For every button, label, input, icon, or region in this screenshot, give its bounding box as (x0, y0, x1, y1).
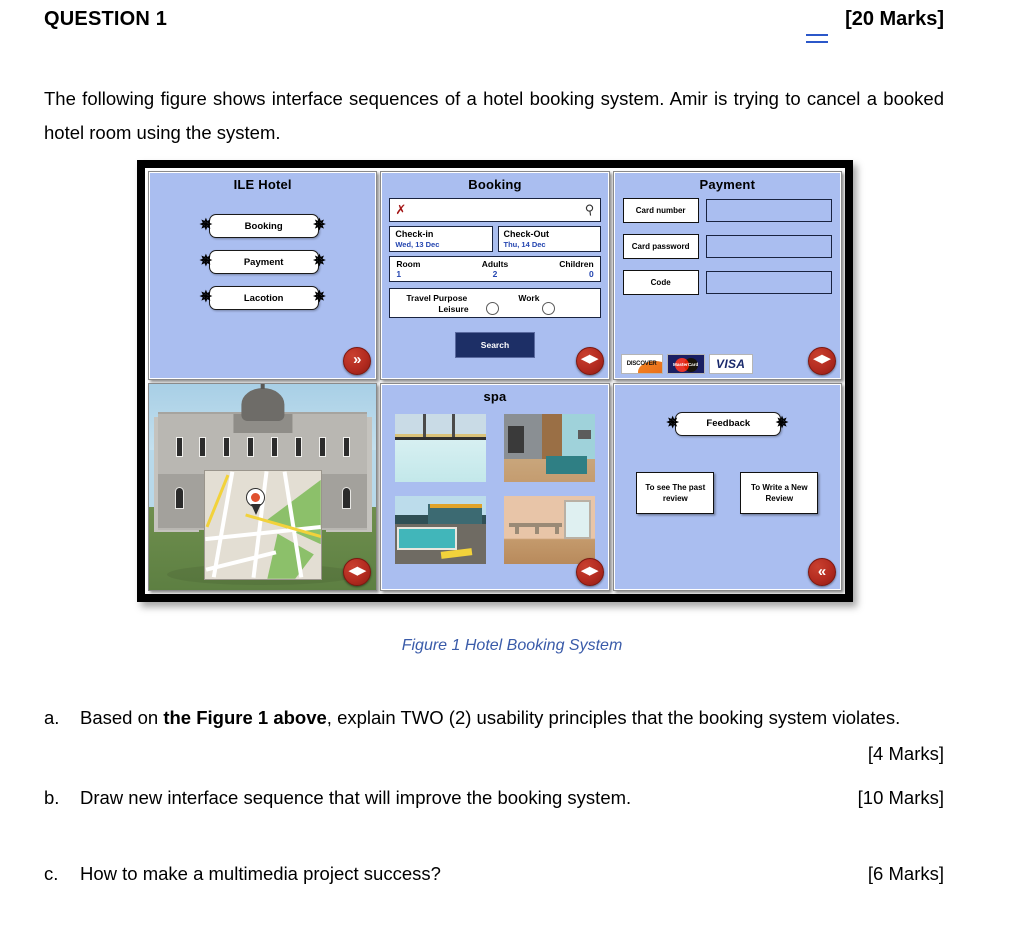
prev-next-arrow-icon[interactable]: ◀▶ (576, 347, 604, 375)
panel-spa[interactable]: spa (380, 383, 609, 592)
burst-left-icon: ✵ (200, 218, 213, 233)
question-a: a. Based on the Figure 1 above, explain … (44, 700, 944, 736)
figure-frame: ILE Hotel ✵ Booking ✵ ✵ Payment ✵ (137, 160, 853, 602)
page-title: QUESTION 1 (44, 8, 167, 31)
guests-field[interactable]: Room 1 Adults 2 Children 0 (389, 256, 600, 282)
back-arrow-icon[interactable]: « (808, 558, 836, 586)
clear-icon[interactable]: ✗ (395, 203, 406, 218)
burst-right-icon: ✵ (313, 218, 326, 233)
visa-logo-icon: VISA (709, 354, 753, 374)
figure-caption: Figure 1 Hotel Booking System (0, 637, 1024, 655)
spa-title: spa (381, 389, 608, 404)
menu-title: ILE Hotel (149, 177, 376, 192)
feedback-buttons: To see The past review To Write a New Re… (614, 472, 841, 514)
question-b: b. Draw new interface sequence that will… (44, 780, 944, 816)
card-number-input[interactable] (706, 199, 832, 222)
question-a-marks: [4 Marks] (868, 736, 944, 772)
mastercard-logo-icon: MasterCard (667, 354, 705, 374)
card-number-row: Card number (623, 198, 832, 223)
menu-item-booking[interactable]: ✵ Booking ✵ (209, 214, 317, 236)
room-cell[interactable]: Room 1 (396, 259, 462, 279)
blue-underline-artifact (806, 34, 828, 43)
travel-purpose-label: Travel Purpose (406, 293, 467, 303)
burst-left-icon: ✵ (666, 415, 679, 430)
menu-list: ✵ Booking ✵ ✵ Payment ✵ ✵ Lacotion ✵ (149, 214, 376, 308)
feedback-label: Feedback (706, 418, 750, 429)
room-label: Room (396, 259, 462, 269)
question-b-label: b. (44, 780, 70, 816)
see-past-review-button[interactable]: To see The past review (636, 472, 714, 514)
adults-label: Adults (462, 259, 528, 269)
question-a-text-bold: the Figure 1 above (163, 707, 326, 728)
search-icon[interactable]: ⚲ (584, 201, 596, 218)
accepted-cards: DISCOVER MasterCard VISA (621, 354, 753, 374)
checkout-value: Thu, 14 Dec (504, 240, 595, 250)
menu-item-payment[interactable]: ✵ Payment ✵ (209, 250, 317, 272)
total-marks: [20 Marks] (845, 8, 944, 31)
question-b-text: Draw new interface sequence that will im… (80, 787, 631, 808)
spa-thumbnails (395, 414, 594, 565)
checkin-field[interactable]: Check-in Wed, 13 Dec (389, 226, 492, 252)
code-input[interactable] (706, 271, 832, 294)
prev-next-arrow-icon[interactable]: ◀▶ (808, 347, 836, 375)
burst-right-icon: ✵ (313, 254, 326, 269)
menu-item-label: Payment (244, 257, 284, 268)
question-b-marks: [10 Marks] (858, 780, 944, 816)
children-label: Children (528, 259, 594, 269)
burst-right-icon: ✵ (313, 290, 326, 305)
card-password-row: Card password (623, 234, 832, 259)
page-header: QUESTION 1 [20 Marks] (44, 8, 944, 42)
room-value: 1 (396, 269, 462, 279)
question-c: c. How to make a multimedia project succ… (44, 856, 944, 892)
next-arrow-icon[interactable]: » (343, 347, 371, 375)
date-row: Check-in Wed, 13 Dec Check-Out Thu, 14 D… (389, 226, 600, 256)
panel-location[interactable]: ◀▶ (148, 383, 377, 592)
work-label: Work (518, 293, 539, 303)
indoor-pool-thumbnail[interactable] (395, 414, 486, 482)
leisure-label: Leisure (438, 304, 468, 314)
panel-ile-hotel-menu[interactable]: ILE Hotel ✵ Booking ✵ ✵ Payment ✵ (148, 171, 377, 380)
card-number-label: Card number (623, 198, 699, 223)
card-password-label: Card password (623, 234, 699, 259)
panel-payment[interactable]: Payment Card number Card password Code (613, 171, 842, 380)
burst-left-icon: ✵ (200, 254, 213, 269)
menu-item-lacotion[interactable]: ✵ Lacotion ✵ (209, 286, 317, 308)
map-thumbnail[interactable] (204, 470, 322, 579)
gym-thumbnail[interactable] (504, 414, 595, 482)
checkin-label: Check-in (395, 229, 486, 240)
panel-feedback[interactable]: ✵ Feedback ✵ To see The past review To W… (613, 383, 842, 592)
checkout-field[interactable]: Check-Out Thu, 14 Dec (498, 226, 601, 252)
intro-paragraph: The following figure shows interface seq… (44, 82, 944, 150)
code-label: Code (623, 270, 699, 295)
menu-item-label: Lacotion (244, 293, 284, 304)
travel-purpose-field[interactable]: Travel Purpose Leisure Work (389, 288, 600, 318)
children-cell[interactable]: Children 0 (528, 259, 594, 279)
question-c-label: c. (44, 856, 70, 892)
work-radio[interactable] (542, 302, 555, 315)
children-value: 0 (528, 269, 594, 279)
panel-booking[interactable]: Booking ✗ ⚲ Check-in Wed, 13 Dec (380, 171, 609, 380)
write-new-review-button[interactable]: To Write a New Review (740, 472, 818, 514)
question-a-text-suffix: , explain TWO (2) usability principles t… (327, 707, 900, 728)
booking-title: Booking (381, 177, 608, 192)
feedback-header-button[interactable]: ✵ Feedback ✵ (675, 412, 779, 434)
prev-next-arrow-icon[interactable]: ◀▶ (576, 558, 604, 586)
question-c-text: How to make a multimedia project success… (80, 863, 441, 884)
question-a-label: a. (44, 700, 70, 736)
search-input[interactable]: ✗ ⚲ (389, 198, 600, 222)
leisure-radio[interactable] (486, 302, 499, 315)
code-row: Code (623, 270, 832, 295)
search-button[interactable]: Search (455, 332, 535, 358)
adults-cell[interactable]: Adults 2 (462, 259, 528, 279)
discover-logo-icon: DISCOVER (621, 354, 663, 374)
payment-title: Payment (614, 177, 841, 192)
menu-item-label: Booking (245, 221, 283, 232)
adults-value: 2 (462, 269, 528, 279)
hotel-facade-image (149, 384, 376, 591)
checkout-label: Check-Out (504, 229, 595, 240)
question-list: a. Based on the Figure 1 above, explain … (44, 700, 944, 918)
treatment-room-thumbnail[interactable] (504, 496, 595, 564)
burst-right-icon: ✵ (776, 415, 789, 430)
card-password-input[interactable] (706, 235, 832, 258)
burst-left-icon: ✵ (200, 290, 213, 305)
outdoor-pool-thumbnail[interactable] (395, 496, 486, 564)
checkin-value: Wed, 13 Dec (395, 240, 486, 250)
exam-page: QUESTION 1 [20 Marks] The following figu… (0, 0, 1024, 949)
question-c-marks: [6 Marks] (868, 856, 944, 892)
question-a-text-prefix: Based on (80, 707, 163, 728)
